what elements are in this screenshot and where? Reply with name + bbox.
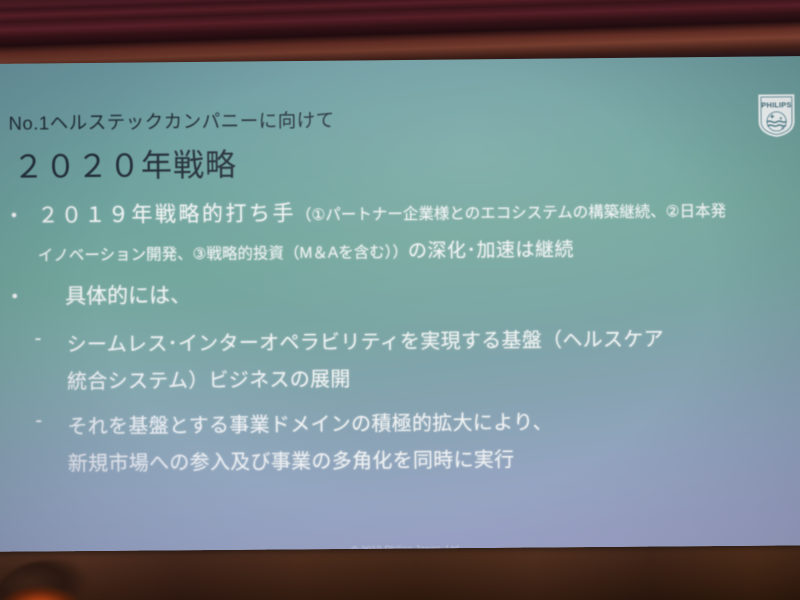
slide-content: No.1ヘルステックカンパニーに向けて ２０２０年戦略 PHILIPS (0, 56, 800, 564)
sub-bullet-1-text: シームレス･インターオペラビリティを実現する基盤（ヘルスケア (67, 329, 664, 357)
bullet-1-continuation: イノベーション開発、③戦略的投資（M＆Aを含む））の深化･加速は継続 (0, 232, 800, 267)
philips-wordmark: PHILIPS (761, 100, 791, 109)
bullet-1-continuation-small: イノベーション開発、③戦略的投資（M＆Aを含む）） (38, 244, 408, 265)
projection-screen: No.1ヘルステックカンパニーに向けて ２０２０年戦略 PHILIPS (0, 56, 800, 564)
bullet-1-paren: （①パートナー企業様とのエコシステムの構築継続、②日本発 (296, 203, 726, 224)
sub-bullet-1-line-2: 統合システム）ビジネスの展開 (0, 358, 800, 395)
stage-wall (0, 545, 800, 600)
sub-bullet-marker: - (35, 409, 42, 432)
slide-kicker: No.1ヘルステックカンパニーに向けて (8, 107, 334, 136)
sub-bullet-2-text: それを基盤とする事業ドメインの積極的拡大により、 (67, 412, 553, 439)
sub-bullet-1-line-1: - シームレス･インターオペラビリティを実現する基盤（ヘルスケア (0, 321, 800, 358)
bullet-marker: ・ (4, 286, 25, 309)
slide-body: ・ ２０１９年戦略的打ち手（①パートナー企業様とのエコシステムの構築継続、②日本… (0, 192, 800, 493)
presentation-photo: No.1ヘルステックカンパニーに向けて ２０２０年戦略 PHILIPS (0, 0, 800, 600)
philips-shield-logo: PHILIPS (756, 92, 796, 138)
bullet-item-1: ・ ２０１９年戦略的打ち手（①パートナー企業様とのエコシステムの構築継続、②日本… (0, 192, 800, 230)
sub-bullet-2-line-1: - それを基盤とする事業ドメインの積極的拡大により、 (0, 403, 800, 440)
bullet-marker: ・ (3, 200, 24, 230)
slide-title: ２０２０年戦略 (13, 140, 237, 187)
sub-bullet-marker: - (35, 327, 42, 350)
sub-bullet-2-line-2: 新規市場への参入及び事業の多角化を同時に実行 (0, 440, 800, 477)
bullet-1-continuation-tail: の深化･加速は継続 (408, 239, 574, 262)
bullet-1-main: ２０１９年戦略的打ち手 (37, 202, 296, 227)
bullet-item-2: ・ 具体的には、 (0, 273, 800, 311)
bullet-2-main: 具体的には、 (65, 284, 191, 308)
